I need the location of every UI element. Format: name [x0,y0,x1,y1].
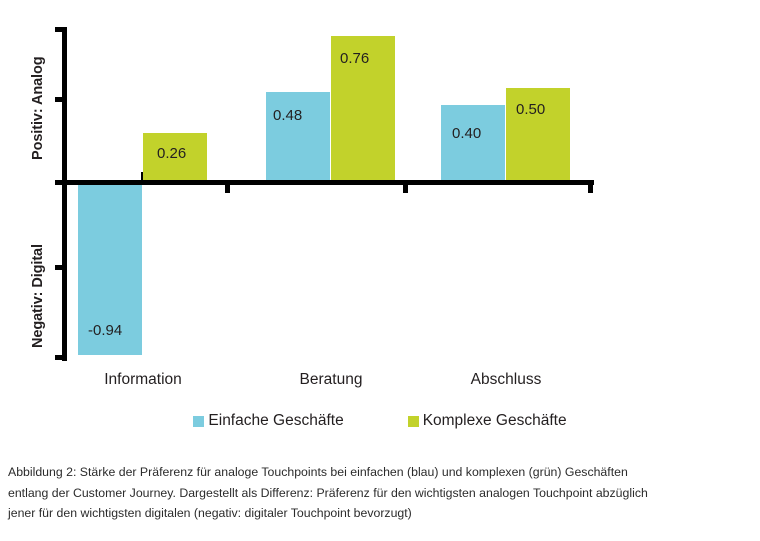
caption-line-1: Abbildung 2: Stärke der Präferenz für an… [8,462,744,483]
legend-swatch-blue-icon [193,416,204,427]
figure-caption: Abbildung 2: Stärke der Präferenz für an… [8,462,744,524]
category-label-abschluss: Abschluss [441,371,571,389]
legend-item-einfache[interactable]: Einfache Geschäfte [193,412,343,430]
chart-legend: Einfache Geschäfte Komplexe Geschäfte [0,412,760,430]
legend-item-komplexe[interactable]: Komplexe Geschäfte [408,412,567,430]
caption-line-3: jener für den wichtigsten digitalen (neg… [8,503,744,524]
bar-chart: Positiv: Analog Negativ: Digital -0.94 0… [0,0,760,400]
y-axis-tick-bottom [55,355,63,360]
y-axis-tick-zero [55,180,63,185]
category-label-information: Information [78,371,208,389]
legend-swatch-green-icon [408,416,419,427]
bar-label-beratung-einfache: 0.48 [273,107,302,124]
category-label-beratung: Beratung [266,371,396,389]
y-axis-line [62,27,67,361]
y-axis-tick-upper [55,97,63,102]
bar-abschluss-einfache[interactable] [441,105,505,180]
y-axis-tick-top [55,27,63,32]
legend-label-komplexe: Komplexe Geschäfte [423,412,567,430]
x-axis-tick-4 [403,184,408,193]
x-axis-tick-6 [588,184,593,193]
bar-label-information-komplexe: 0.26 [157,145,186,162]
y-axis-tick-lower [55,265,63,270]
legend-label-einfache: Einfache Geschäfte [208,412,343,430]
caption-line-2: entlang der Customer Journey. Dargestell… [8,483,744,504]
y-axis-title-positive: Positiv: Analog [30,57,46,161]
bar-beratung-einfache[interactable] [266,92,330,180]
y-axis-title-negative: Negativ: Digital [30,244,46,348]
bar-label-information-einfache: -0.94 [88,322,122,339]
bar-label-abschluss-einfache: 0.40 [452,125,481,142]
x-axis-tick-2 [225,184,230,193]
bar-label-abschluss-komplexe: 0.50 [516,101,545,118]
bar-label-beratung-komplexe: 0.76 [340,50,369,67]
